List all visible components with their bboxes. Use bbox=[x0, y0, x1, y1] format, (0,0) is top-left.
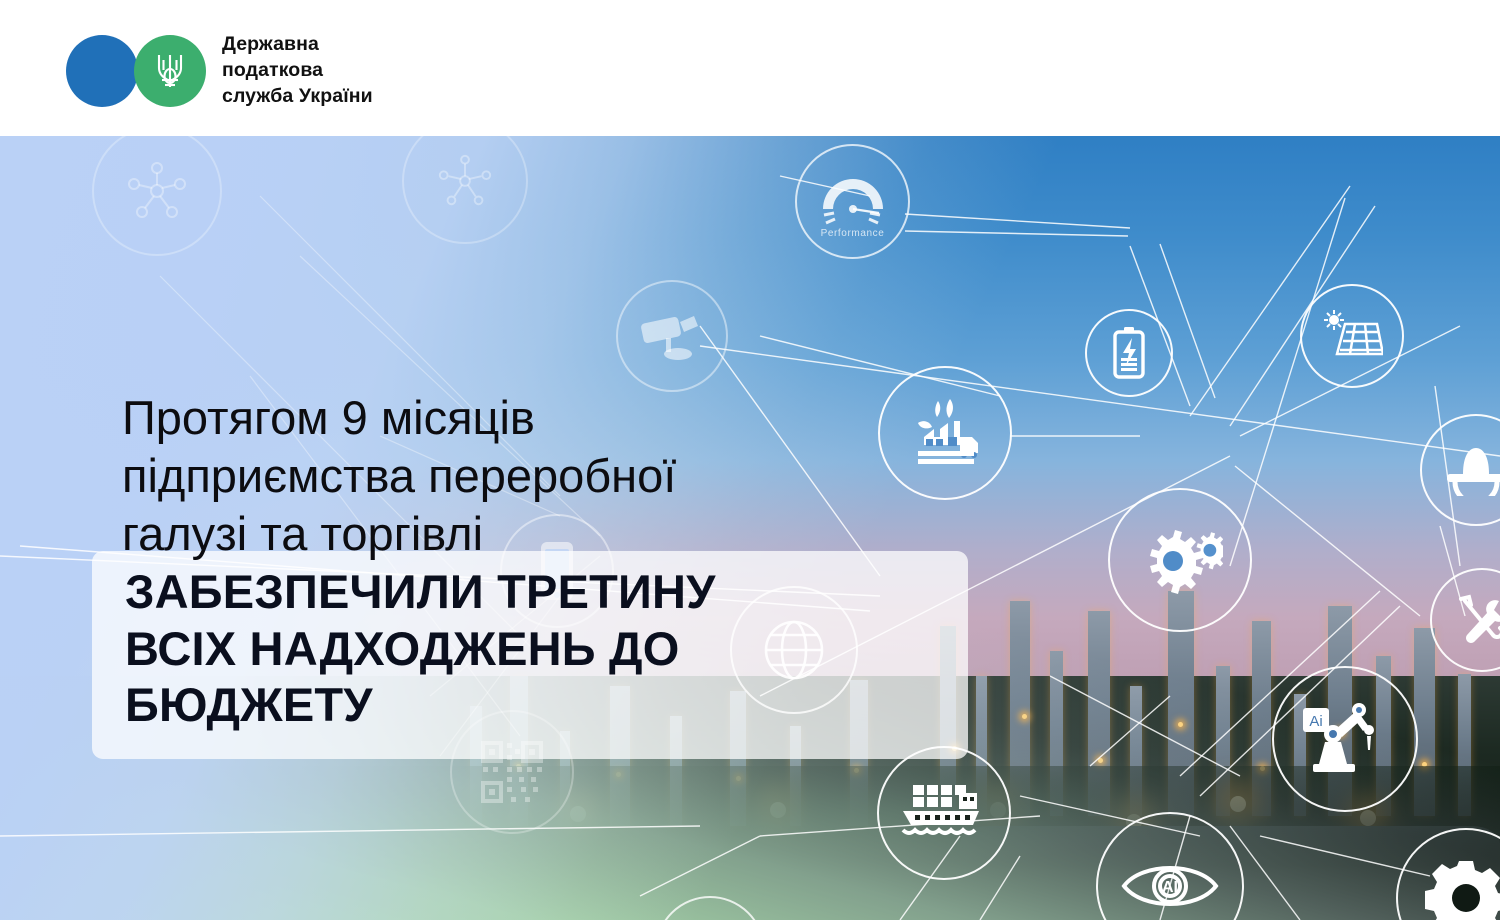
svg-text:AI: AI bbox=[1162, 879, 1178, 896]
security-camera-icon bbox=[616, 280, 728, 392]
solar-panel-icon bbox=[1300, 284, 1404, 388]
poster: Державна податкова служба України bbox=[0, 0, 1500, 920]
emphasis-text: ЗАБЕЗПЕЧИЛИ ТРЕТИНУ ВСІХ НАДХОДЖЕНЬ ДО Б… bbox=[125, 564, 925, 734]
organization-name: Державна податкова служба України bbox=[222, 32, 373, 110]
logo-circle-blue bbox=[66, 35, 138, 107]
cargo-ship-icon bbox=[877, 746, 1011, 880]
ai-eye-icon: AI bbox=[1096, 812, 1244, 920]
page-title: Протягом 9 місяців підприємства переробн… bbox=[122, 389, 912, 562]
logo-marks bbox=[66, 35, 206, 107]
gauge-icon: Performance bbox=[795, 144, 910, 259]
network-hub-icon bbox=[402, 136, 528, 244]
gears-icon bbox=[1108, 488, 1252, 632]
trident-icon bbox=[134, 35, 206, 107]
hero-image: Performance bbox=[0, 136, 1500, 920]
cloud-icon bbox=[655, 896, 765, 920]
gauge-label: Performance bbox=[797, 228, 908, 239]
tools-icon bbox=[1430, 568, 1500, 672]
svg-text:Ai: Ai bbox=[1309, 713, 1322, 730]
battery-icon bbox=[1085, 309, 1173, 397]
organization-logo: Державна податкова служба України bbox=[66, 32, 373, 110]
gear-icon bbox=[1396, 828, 1500, 920]
robot-arm-icon: Ai bbox=[1272, 666, 1418, 812]
network-node-icon bbox=[92, 136, 222, 256]
header-bar: Державна податкова служба України bbox=[0, 0, 1500, 136]
hard-hat-icon bbox=[1420, 414, 1500, 526]
